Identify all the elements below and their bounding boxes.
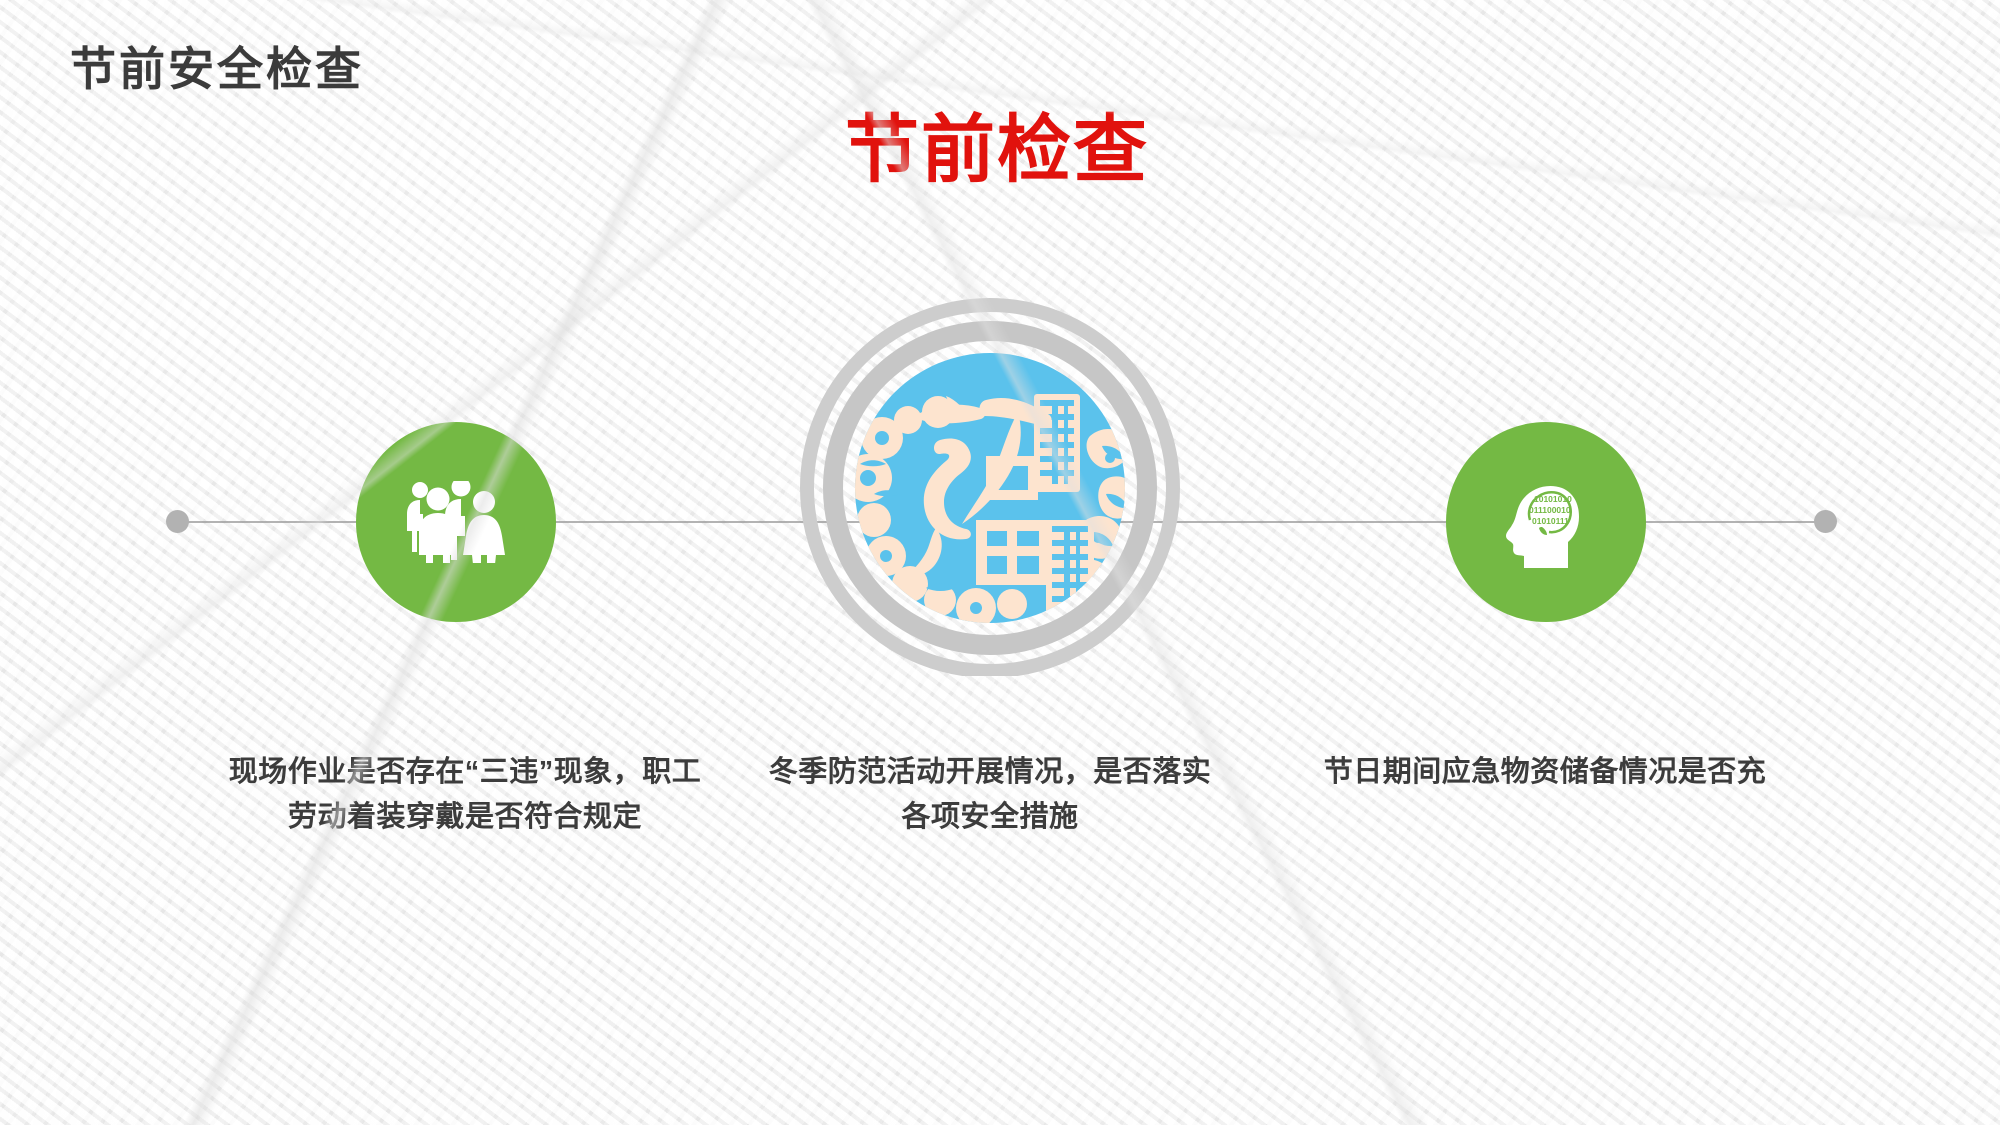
node-caption-left: 现场作业是否存在“三违”现象，职工劳动着装穿戴是否符合规定 [215,750,715,840]
node-caption-center: 冬季防范活动开展情况，是否落实各项安全措施 [760,750,1220,840]
timeline-start-dot [166,510,189,533]
page-title: 节前安全检查 [70,33,364,99]
head-binary-brain-icon: 10101010 011100010 01010111 [1496,472,1596,572]
main-title: 节前检查 [845,90,1149,197]
slide-canvas: 节前安全检查 节前检查 [0,0,2000,1125]
binary-line-3: 01010111 [1532,516,1569,526]
binary-line-2: 011100010 [1529,505,1571,515]
timeline-end-dot [1814,510,1837,533]
people-group-icon [404,481,508,563]
node-caption-right: 节日期间应急物资储备情况是否充 [1315,750,1775,795]
timeline-node-right[interactable]: 10101010 011100010 01010111 [1446,422,1646,622]
timeline-node-left[interactable] [356,422,556,622]
timeline-node-center[interactable] [790,288,1190,688]
